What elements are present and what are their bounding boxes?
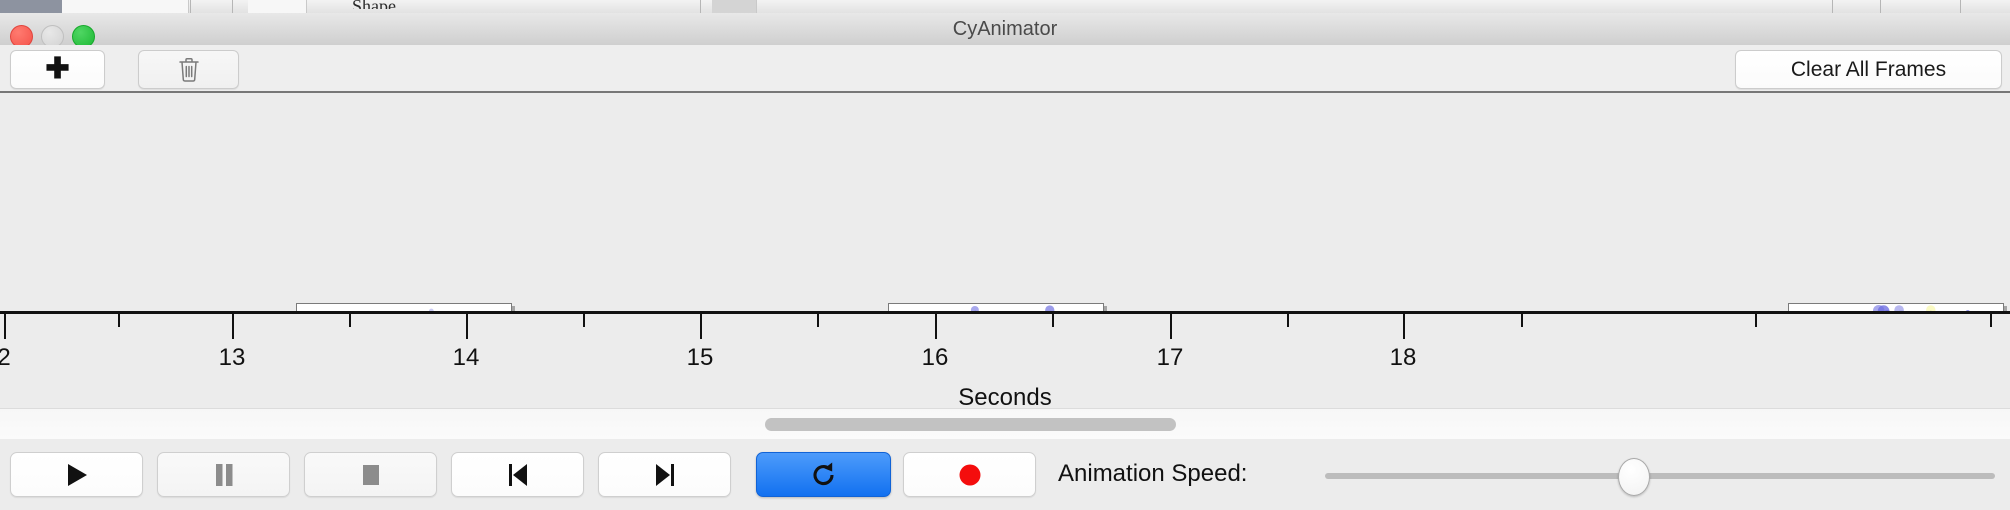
delete-frame-button[interactable] — [138, 50, 239, 89]
play-button[interactable] — [10, 452, 143, 497]
ruler-tick-major — [1170, 314, 1172, 339]
network-graph-thumbnail: MCM1 — [889, 304, 1103, 311]
play-icon — [64, 461, 90, 489]
record-button[interactable] — [903, 452, 1036, 497]
clear-all-frames-button[interactable]: Clear All Frames — [1735, 50, 2002, 89]
record-icon — [957, 462, 983, 488]
ruler-tick-label: 17 — [1157, 344, 1184, 372]
background-tick — [1880, 0, 1881, 13]
ruler-tick-label: 18 — [1390, 344, 1417, 372]
window-title: CyAnimator — [0, 13, 2010, 45]
title-bar: CyAnimator — [0, 13, 2010, 46]
timeline-ruler: Seconds 2131415161718 — [0, 311, 2010, 410]
stop-icon — [360, 463, 382, 487]
animation-speed-label: Animation Speed: — [1058, 452, 1247, 495]
skip-forward-icon — [652, 461, 678, 489]
ruler-tick-label: 14 — [453, 344, 480, 372]
background-tick — [232, 0, 233, 13]
timeline-horizontal-scrollbar[interactable] — [0, 408, 2010, 440]
loop-button[interactable] — [756, 452, 891, 497]
ruler-tick-minor — [1287, 314, 1289, 327]
network-graph-thumbnail: MCM1 — [1789, 304, 2003, 311]
background-window-dark-chip — [0, 0, 62, 13]
timeline-panel[interactable]: MCM1MCM1MCM1 Seconds 2131415161718 — [0, 91, 2010, 410]
frame-toolbar: ✚ Clear All Frames — [0, 45, 2010, 92]
stop-button[interactable] — [304, 452, 437, 497]
network-graph-thumbnail: MCM1 — [297, 304, 511, 311]
cyanimator-window: Shape CyAnimator ✚ Clear All Frames MCM1… — [0, 0, 2010, 510]
ruler-tick-minor — [118, 314, 120, 327]
ruler-tick-major — [232, 314, 234, 339]
ruler-tick-major — [700, 314, 702, 339]
ruler-tick-major — [1403, 314, 1405, 339]
clear-all-frames-label: Clear All Frames — [1791, 58, 1946, 82]
background-tick — [190, 0, 191, 13]
ruler-tick-minor — [817, 314, 819, 327]
slider-track[interactable] — [1325, 473, 1995, 479]
background-tick — [1960, 0, 1961, 13]
slider-thumb[interactable] — [1618, 458, 1650, 496]
background-window-label: Shape — [352, 0, 396, 9]
timeline-frame[interactable]: MCM1 — [296, 303, 512, 311]
ruler-tick-major — [935, 314, 937, 339]
background-tick — [1832, 0, 1833, 13]
add-frame-button[interactable]: ✚ — [10, 50, 105, 89]
ruler-tick-label: 16 — [922, 344, 949, 372]
ruler-tick-minor — [1755, 314, 1757, 327]
ruler-tick-minor — [583, 314, 585, 327]
timeline-frame[interactable]: MCM1 — [888, 303, 1104, 311]
frames-track[interactable]: MCM1MCM1MCM1 — [0, 93, 2010, 311]
ruler-tick-label: 2 — [0, 344, 11, 372]
ruler-tick-label: 13 — [219, 344, 246, 372]
pause-button[interactable] — [157, 452, 290, 497]
background-chip — [134, 0, 189, 13]
skip-back-icon — [505, 461, 531, 489]
ruler-tick-minor — [1990, 314, 1992, 327]
loop-icon — [811, 461, 837, 489]
ruler-tick-label: 15 — [687, 344, 714, 372]
skip-forward-button[interactable] — [598, 452, 731, 497]
background-chip — [248, 0, 307, 13]
scrollbar-thumb[interactable] — [765, 418, 1176, 431]
pause-icon — [212, 462, 236, 488]
background-tick — [700, 0, 701, 13]
plus-icon: ✚ — [45, 58, 69, 81]
ruler-tick-major — [466, 314, 468, 339]
ruler-baseline — [0, 311, 2010, 314]
playback-toolbar: Animation Speed: — [0, 439, 2010, 510]
ruler-tick-minor — [1052, 314, 1054, 327]
background-chip — [712, 0, 757, 13]
background-window-strip: Shape — [0, 0, 2010, 13]
ruler-tick-major — [4, 314, 6, 339]
ruler-tick-minor — [1521, 314, 1523, 327]
animation-speed-slider[interactable] — [1325, 473, 1995, 479]
background-chip — [62, 0, 135, 13]
ruler-tick-minor — [349, 314, 351, 327]
trash-icon — [178, 57, 200, 82]
skip-back-button[interactable] — [451, 452, 584, 497]
timeline-frame[interactable]: MCM1 — [1788, 303, 2004, 311]
